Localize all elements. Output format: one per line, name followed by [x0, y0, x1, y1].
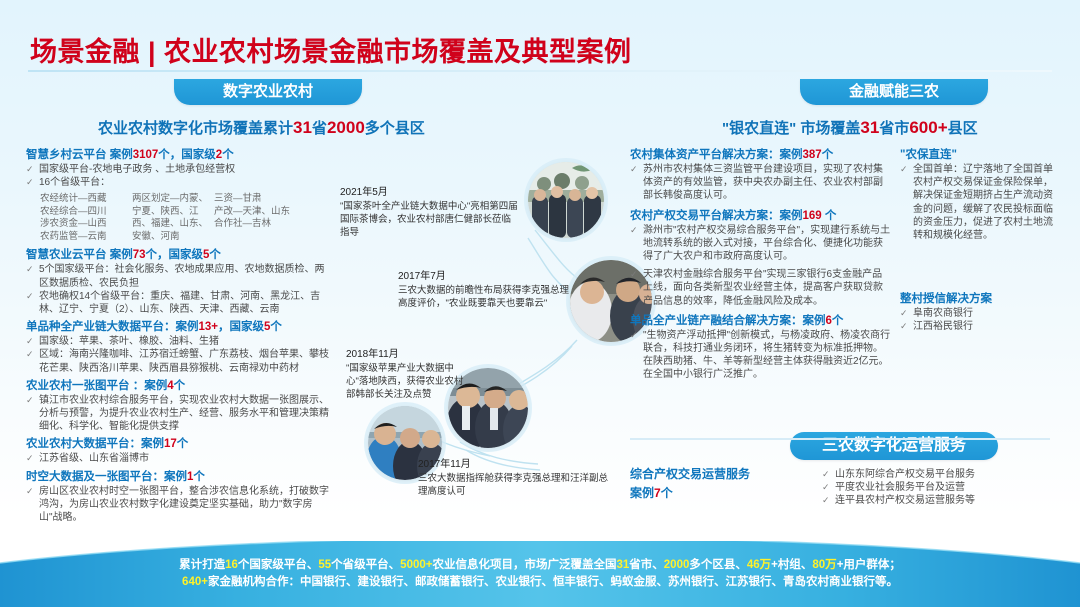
footer-banner: 累计打造16个国家级平台、55个省级平台、5000+农业信息化项目，市场广泛覆盖… — [0, 541, 1080, 607]
ops-case-unit: 个 — [661, 486, 673, 500]
timeline-note-2: 2017年7月 三农大数据的前瞻性布局获得李克强总理高度评价，"农业既要靠天也要… — [398, 270, 573, 310]
footer-text: 累计打造16个国家级平台、55个省级平台、5000+农业信息化项目，市场广泛覆盖… — [0, 557, 1080, 591]
timeline-date: 2017年11月 — [418, 458, 613, 471]
section-single-product-chain: 单品种全产业链大数据平台：案例13+，国家级5个 国家级：苹果、茶叶、橡胶、油料… — [26, 320, 331, 375]
table-cell: 宁夏、陕西、江 — [132, 206, 214, 219]
section-title: 整村授信解决方案 — [900, 292, 1058, 306]
section-items: 阜南农商银行 江西裕民银行 — [900, 307, 1058, 333]
table-col-2: 两区划定—内蒙、 宁夏、陕西、江 西、福建、山东、 安徽、河南 — [132, 193, 214, 243]
footer-text-part: 累计打造 — [179, 559, 225, 571]
table-cell: 合作社—吉林 — [214, 218, 324, 231]
section-items: 全国首单：辽宁落地了全国首单农村产权交易保证金保险保单，解决保证金短期挤占生产流… — [900, 163, 1058, 242]
section-collective-assets: 农村集体资产平台解决方案：案例387个 苏州市农村集体三资监管平台建设项目，实现… — [630, 148, 892, 203]
ops-title-block: 综合产权交易运营服务 案例7个 — [630, 466, 800, 503]
ops-case-label: 案例 — [630, 486, 654, 500]
table-col-1: 农经统计—西藏 农经综合—四川 涉农资金—山西 农药监管—云南 — [40, 193, 132, 243]
table-cell: 西、福建、山东、 — [132, 218, 214, 231]
list-item: 国家级平台-农地电子政务 、土地承包经营权 — [26, 163, 331, 176]
list-item: 天津农村金融综合服务平台"实现三家银行6支金融产品上线，面向各类新型农业经营主体… — [630, 268, 892, 308]
list-item: 农地确权14个省级平台：重庆、福建、甘肃、河南、黑龙江、吉林、辽宁、宁夏（2）、… — [26, 290, 331, 316]
section-title-tail: 案例13+，国家级5个 — [176, 321, 282, 333]
left-heading-prefix: 农业农村数字化市场覆盖累计 — [98, 120, 293, 137]
footer-text-part: 个省级平台、 — [331, 559, 400, 571]
footer-text-part: 个国家级平台、 — [238, 559, 319, 571]
footer-highlight: 31 — [616, 559, 629, 571]
section-title-tail: 案例169 个 — [780, 210, 837, 222]
section-title-tail: 案例3107个，国家级2个 — [107, 149, 234, 161]
section-nongbao-zhilian: "农保直连" 全国首单：辽宁落地了全国首单农村产权交易保证金保险保单，解决保证金… — [900, 148, 1058, 242]
timeline-text: 三农大数据的前瞻性布局获得李克强总理高度评价，"农业既要靠天也要靠云" — [398, 285, 569, 309]
section-items: 国家级平台-农地电子政务 、土地承包经营权 16个省级平台： — [26, 163, 331, 189]
tab-digital-agriculture[interactable]: 数字农业农村 — [174, 79, 362, 105]
right-heading-mid: 省市 — [879, 120, 909, 137]
footer-highlight: 80万 — [812, 559, 836, 571]
timeline-note-4: 2017年11月 三农大数据指挥舱获得李克强总理和汪洋副总理高度认可 — [418, 458, 613, 498]
list-item: 5个国家级平台：社会化服务、农地成果应用、农地数据质检、两区数据质检、农民负担 — [26, 263, 331, 289]
section-spatiotemporal: 时空大数据及一张图平台：案例1个 房山区农业农村时空一张图平台，整合涉农信息化系… — [26, 470, 331, 525]
section-title-tail: 案例1个 — [164, 471, 205, 483]
right-heading-suffix: 县区 — [948, 120, 978, 137]
timeline: 2021年5月 "国家茶叶全产业链大数据中心"亮相第四届国际茶博会，农业农村部唐… — [340, 150, 625, 520]
list-item: 16个省级平台： — [26, 176, 331, 189]
footer-highlight: 640+ — [182, 576, 208, 588]
section-smart-agri-cloud: 智慧农业云平台 案例73个，国家级5个 5个国家级平台：社会化服务、农地成果应用… — [26, 248, 331, 316]
section-items: 房山区农业农村时空一张图平台，整合涉农信息化系统，打破数字鸿沟，为房山农业农村数… — [26, 485, 331, 525]
list-item: 连平县农村产权交易运营服务等 — [822, 494, 1062, 507]
section-title-text: 单品种全产业链大数据平台： — [26, 321, 176, 333]
section-items: 苏州市农村集体三资监管平台建设项目，实现了农村集体资产的有效监管，获中央农办副主… — [630, 163, 892, 203]
section-title-text: 农村集体资产平台解决方案： — [630, 149, 780, 161]
list-item: 江西裕民银行 — [900, 320, 1058, 333]
list-item: 山东东阿综合产权交易平台服务 — [822, 468, 1062, 481]
table-cell: 农经统计—西藏 — [40, 193, 132, 206]
right-column-body: 农村集体资产平台解决方案：案例387个 苏州市农村集体三资监管平台建设项目，实现… — [630, 148, 892, 386]
section-title-tail: 案例387个 — [780, 149, 834, 161]
section-title-text: 整村授信解决方案 — [900, 293, 992, 305]
list-item: 阜南农商银行 — [900, 307, 1058, 320]
section-title: 时空大数据及一张图平台：案例1个 — [26, 470, 331, 484]
table-cell: 两区划定—内蒙、 — [132, 193, 214, 206]
section-title-tail: 案例6个 — [803, 315, 844, 327]
footer-line-1: 累计打造16个国家级平台、55个省级平台、5000+农业信息化项目，市场广泛覆盖… — [0, 557, 1080, 574]
section-title-text: 智慧农业云平台 — [26, 249, 107, 261]
right-heading-num1: 31 — [860, 118, 879, 137]
section-title-text: 单品全产业链产融结合解决方案： — [630, 315, 803, 327]
section-title: 农业农村一张图平台 ：案例4个 — [26, 379, 331, 393]
province-platform-table: 农经统计—西藏 农经综合—四川 涉农资金—山西 农药监管—云南 两区划定—内蒙、… — [40, 193, 331, 243]
right-heading-prefix: "银农直连" 市场覆盖 — [722, 120, 860, 137]
section-title: 农村产权交易平台解决方案：案例169 个 — [630, 209, 892, 223]
timeline-date: 2018年11月 — [346, 348, 466, 361]
section-title-text: 农业农村一张图平台 ： — [26, 380, 144, 392]
ops-title-line1: 综合产权交易运营服务 — [630, 466, 800, 483]
footer-highlight: 16 — [225, 559, 238, 571]
list-item: 全国首单：辽宁落地了全国首单农村产权交易保证金保险保单，解决保证金短期挤占生产流… — [900, 163, 1058, 242]
ops-items: 山东东阿综合产权交易平台服务 平度农业社会服务平台及运营 连平县农村产权交易运营… — [822, 468, 1062, 512]
table-cell: 农药监管—云南 — [40, 231, 132, 244]
section-title-text: "农保直连" — [900, 149, 957, 161]
tab-digital-ops-service[interactable]: 三农数字化运营服务 — [790, 432, 998, 460]
footer-highlight: 55 — [318, 559, 331, 571]
ops-title-line2: 案例7个 — [630, 485, 800, 502]
left-heading-mid: 省 — [312, 120, 327, 137]
left-heading-num1: 31 — [293, 118, 312, 137]
footer-text-part: 省市、 — [629, 559, 664, 571]
section-village-credit: 整村授信解决方案 阜南农商银行 江西裕民银行 — [900, 292, 1058, 333]
section-items: 滁州市"农村产权交易综合服务平台"，实现建行系统与土地流转系统的嵌入式对接，平台… — [630, 224, 892, 308]
timeline-text: "国家级苹果产业大数据中心"落地陕西，获得农业农村部韩部长关注及点赞 — [346, 363, 463, 400]
title-divider — [28, 70, 1052, 72]
section-title-tail: 案例17个 — [141, 438, 188, 450]
right-column-heading: "银农直连" 市场覆盖31省市600+县区 — [722, 117, 978, 138]
list-item: "生物资产浮动抵押"创新模式，与杨凌政府、杨凌农商行联合，科技打通业务闭环，将生… — [630, 329, 892, 382]
section-title-text: 农村产权交易平台解决方案： — [630, 210, 780, 222]
list-item: 滁州市"农村产权交易综合服务平台"，实现建行系统与土地流转系统的嵌入式对接，平台… — [630, 224, 892, 264]
slide-root: 场景金融 | 农业农村场景金融市场覆盖及典型案例 数字农业农村 金融赋能三农 农… — [0, 0, 1080, 607]
section-items: 5个国家级平台：社会化服务、农地成果应用、农地数据质检、两区数据质检、农民负担 … — [26, 263, 331, 316]
table-cell: 三资—甘肃 — [214, 193, 324, 206]
list-item: 平度农业社会服务平台及运营 — [822, 481, 1062, 494]
footer-highlight: 2000 — [664, 559, 690, 571]
right-heading-num2: 600+ — [909, 118, 947, 137]
section-title: 单品全产业链产融结合解决方案：案例6个 — [630, 314, 892, 328]
left-column-heading: 农业农村数字化市场覆盖累计31省2000多个县区 — [98, 117, 425, 138]
list-item: 国家级：苹果、茶叶、橡胶、油料、生猪 — [26, 335, 331, 348]
left-column-body: 智慧乡村云平台 案例3107个，国家级2个 国家级平台-农地电子政务 、土地承包… — [26, 148, 331, 528]
footer-line-2: 640+家金融机构合作：中国银行、建设银行、邮政储蓄银行、农业银行、恒丰银行、蚂… — [0, 574, 1080, 591]
section-title-text: 时空大数据及一张图平台： — [26, 471, 164, 483]
ops-divider — [630, 438, 1050, 440]
footer-text-part: 农业信息化项目，市场广泛覆盖全国 — [432, 559, 616, 571]
timeline-date: 2021年5月 — [340, 186, 520, 199]
tab-finance-enable[interactable]: 金融赋能三农 — [800, 79, 988, 105]
section-title-text: 智慧乡村云平台 — [26, 149, 107, 161]
list-item: 区域：海南兴隆咖啡、江苏宿迁螃蟹、广东荔枝、烟台苹果、攀枝花芒果、陕西洛川苹果、… — [26, 348, 331, 374]
section-items: 山东东阿综合产权交易平台服务 平度农业社会服务平台及运营 连平县农村产权交易运营… — [822, 468, 1062, 508]
section-title-tail: 案例73个，国家级5个 — [107, 249, 221, 261]
right-side-column: "农保直连" 全国首单：辽宁落地了全国首单农村产权交易保证金保险保单，解决保证金… — [900, 148, 1058, 338]
left-heading-suffix: 多个县区 — [365, 120, 425, 137]
list-item: 镇江市农业农村综合服务平台，实现农业农村大数据一张图展示、分析与预警，为提升农业… — [26, 394, 331, 434]
footer-text-part: +村组、 — [771, 559, 812, 571]
footer-text-part: 多个区县、 — [689, 559, 747, 571]
timeline-text: "国家茶叶全产业链大数据中心"亮相第四届国际茶博会，农业农村部唐仁健部长莅临指导 — [340, 201, 518, 238]
timeline-note-3: 2018年11月 "国家级苹果产业大数据中心"落地陕西，获得农业农村部韩部长关注… — [346, 348, 466, 401]
table-cell: 安徽、河南 — [132, 231, 214, 244]
timeline-note-1: 2021年5月 "国家茶叶全产业链大数据中心"亮相第四届国际茶博会，农业农村部唐… — [340, 186, 520, 239]
section-title: 农业农村大数据平台：案例17个 — [26, 437, 331, 451]
list-item: 江苏省级、山东省淄博市 — [26, 452, 331, 465]
section-one-map: 农业农村一张图平台 ：案例4个 镇江市农业农村综合服务平台，实现农业农村大数据一… — [26, 379, 331, 434]
section-property-rights: 农村产权交易平台解决方案：案例169 个 滁州市"农村产权交易综合服务平台"，实… — [630, 209, 892, 308]
timeline-date: 2017年7月 — [398, 270, 573, 283]
section-items: 镇江市农业农村综合服务平台，实现农业农村大数据一张图展示、分析与预警，为提升农业… — [26, 394, 331, 434]
page-title: 场景金融 | 农业农村场景金融市场覆盖及典型案例 — [30, 30, 930, 69]
section-title-text: 农业农村大数据平台： — [26, 438, 141, 450]
section-items: "生物资产浮动抵押"创新模式，与杨凌政府、杨凌农商行联合，科技打通业务闭环，将生… — [630, 329, 892, 382]
section-title: "农保直连" — [900, 148, 1058, 162]
section-title: 农村集体资产平台解决方案：案例387个 — [630, 148, 892, 162]
section-title-tail: 案例4个 — [144, 380, 185, 392]
timeline-text: 三农大数据指挥舱获得李克强总理和汪洋副总理高度认可 — [418, 473, 608, 497]
timeline-photo-2021-05[interactable] — [528, 162, 604, 238]
table-col-3: 三资—甘肃 产改—天津、山东 合作社—吉林 — [214, 193, 324, 243]
footer-text-part: +用户群体； — [837, 559, 901, 571]
table-cell: 农经综合—四川 — [40, 206, 132, 219]
section-title: 智慧农业云平台 案例73个，国家级5个 — [26, 248, 331, 262]
section-industry-finance: 单品全产业链产融结合解决方案：案例6个 "生物资产浮动抵押"创新模式，与杨凌政府… — [630, 314, 892, 382]
list-item: 苏州市农村集体三资监管平台建设项目，实现了农村集体资产的有效监管，获中央农办副主… — [630, 163, 892, 203]
table-cell: 涉农资金—山西 — [40, 218, 132, 231]
ops-case-number: 7 — [654, 486, 661, 500]
section-title: 智慧乡村云平台 案例3107个，国家级2个 — [26, 148, 331, 162]
table-cell: 产改—天津、山东 — [214, 206, 324, 219]
footer-highlight: 46万 — [747, 559, 771, 571]
section-bigdata-platform: 农业农村大数据平台：案例17个 江苏省级、山东省淄博市 — [26, 437, 331, 465]
footer-highlight: 5000+ — [400, 559, 432, 571]
list-item: 房山区农业农村时空一张图平台，整合涉农信息化系统，打破数字鸿沟，为房山农业农村数… — [26, 485, 331, 525]
footer-text-part: 家金融机构合作：中国银行、建设银行、邮政储蓄银行、农业银行、恒丰银行、蚂蚁金服、… — [208, 576, 898, 588]
section-items: 江苏省级、山东省淄博市 — [26, 452, 331, 465]
section-smart-village: 智慧乡村云平台 案例3107个，国家级2个 国家级平台-农地电子政务 、土地承包… — [26, 148, 331, 243]
section-items: 国家级：苹果、茶叶、橡胶、油料、生猪 区域：海南兴隆咖啡、江苏宿迁螃蟹、广东荔枝… — [26, 335, 331, 375]
section-title: 单品种全产业链大数据平台：案例13+，国家级5个 — [26, 320, 331, 334]
left-heading-num2: 2000 — [327, 118, 365, 137]
